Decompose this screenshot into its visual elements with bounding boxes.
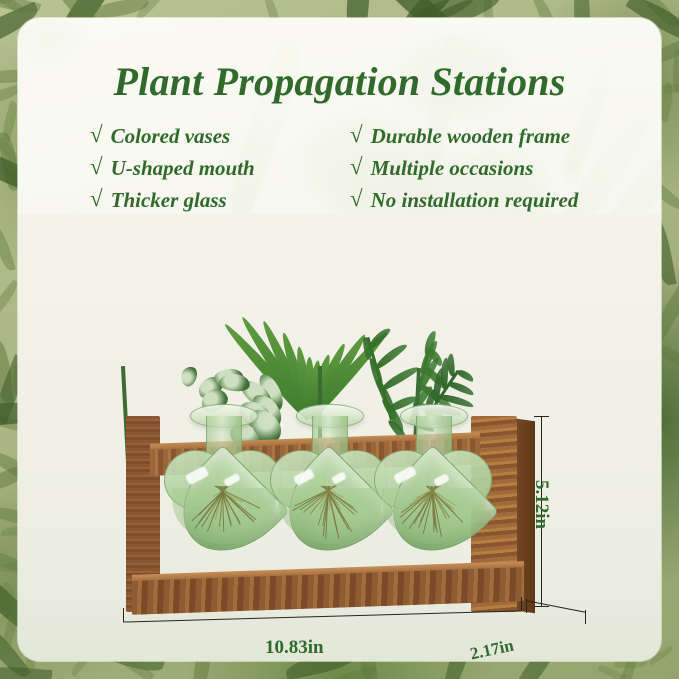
dimension-cap xyxy=(526,599,527,613)
dimension-cap xyxy=(123,608,124,622)
wooden-rack xyxy=(126,416,538,624)
propagation-vase xyxy=(274,414,392,564)
check-icon: √ xyxy=(90,120,103,150)
list-item-label: U-shaped mouth xyxy=(111,153,255,183)
dimension-cap xyxy=(521,597,522,611)
list-item-label: No installation required xyxy=(371,185,579,215)
plant-roots xyxy=(398,484,474,546)
dimension-cap xyxy=(534,416,549,417)
page-title: Plant Propagation Stations xyxy=(18,58,661,105)
check-icon: √ xyxy=(90,152,103,182)
list-item: √ Durable wooden frame xyxy=(350,121,650,151)
list-item: √ Thicker glass xyxy=(90,185,328,215)
plant-roots xyxy=(188,484,264,546)
list-item: √ Colored vases xyxy=(90,121,328,151)
propagation-vase xyxy=(378,414,496,564)
dimension-cap xyxy=(585,610,586,624)
check-icon: √ xyxy=(350,152,363,182)
product-photo xyxy=(18,214,661,661)
product-image-frame: Plant Propagation Stations √ Colored vas… xyxy=(0,0,679,679)
feature-column-left: √ Colored vases √ U-shaped mouth √ Thick… xyxy=(90,121,328,215)
list-item-label: Colored vases xyxy=(111,121,231,151)
list-item: √ No installation required xyxy=(350,185,650,215)
propagation-vase xyxy=(168,414,286,564)
list-item-label: Thicker glass xyxy=(111,185,227,215)
check-icon: √ xyxy=(350,120,363,150)
check-icon: √ xyxy=(350,184,363,214)
dimension-cap xyxy=(534,606,549,607)
list-item-label: Multiple occasions xyxy=(371,153,534,183)
list-item: √ U-shaped mouth xyxy=(90,153,328,183)
feature-column-right: √ Durable wooden frame √ Multiple occasi… xyxy=(350,121,650,215)
list-item: √ Multiple occasions xyxy=(350,153,650,183)
check-icon: √ xyxy=(90,184,103,214)
feature-list: √ Colored vases √ U-shaped mouth √ Thick… xyxy=(90,121,650,215)
dimension-width-label: 10.83in xyxy=(265,637,324,659)
plant-roots xyxy=(294,484,370,546)
list-item-label: Durable wooden frame xyxy=(371,121,571,151)
info-card: Plant Propagation Stations √ Colored vas… xyxy=(18,18,661,661)
dimension-height-label: 5.12in xyxy=(530,480,552,529)
